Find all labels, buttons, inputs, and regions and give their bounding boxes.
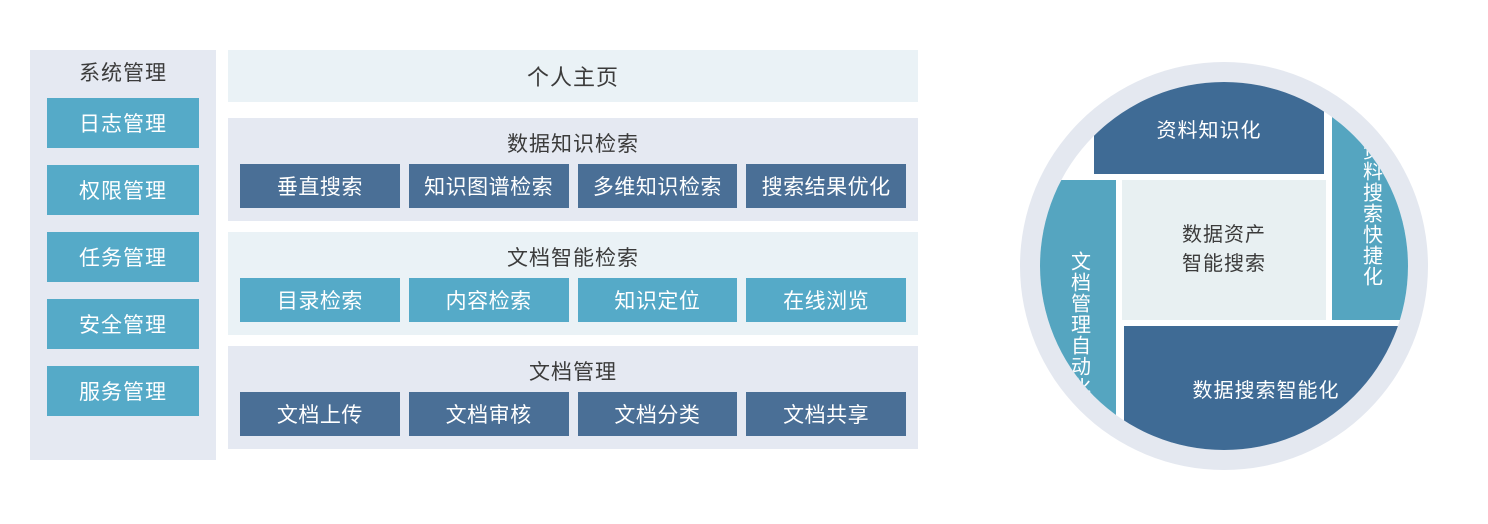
panel-document-intelligent-search: 文档智能检索 目录检索 内容检索 知识定位 在线浏览 <box>228 232 918 335</box>
chip-online-browse[interactable]: 在线浏览 <box>746 278 906 322</box>
sidebar: 系统管理 日志管理 权限管理 任务管理 安全管理 服务管理 <box>30 50 216 460</box>
circular-diagram: 资料知识化 资料搜索快捷化 文档管理自动化 数据搜索智能化 数据资产 智能搜索 <box>1020 62 1440 470</box>
sidebar-item-permission[interactable]: 权限管理 <box>47 165 199 215</box>
panel-data-knowledge-search-title: 数据知识检索 <box>228 118 918 164</box>
panel-personal-home-title: 个人主页 <box>527 60 619 92</box>
diagram-segment-right[interactable]: 资料搜索快捷化 <box>1332 82 1408 320</box>
sidebar-item-log[interactable]: 日志管理 <box>47 98 199 148</box>
panel-document-intelligent-search-buttons: 目录检索 内容检索 知识定位 在线浏览 <box>228 278 918 335</box>
chip-document-classify[interactable]: 文档分类 <box>578 392 738 436</box>
sidebar-item-security[interactable]: 安全管理 <box>47 299 199 349</box>
diagram-center-line1: 数据资产 <box>1182 221 1266 250</box>
chip-vertical-search[interactable]: 垂直搜索 <box>240 164 400 208</box>
diagram-inner-area: 资料知识化 资料搜索快捷化 文档管理自动化 数据搜索智能化 数据资产 智能搜索 <box>1040 82 1408 450</box>
diagram-center-line2: 智能搜索 <box>1182 250 1266 279</box>
panel-document-management: 文档管理 文档上传 文档审核 文档分类 文档共享 <box>228 346 918 449</box>
chip-search-result-optimization[interactable]: 搜索结果优化 <box>746 164 906 208</box>
panel-data-knowledge-search-buttons: 垂直搜索 知识图谱检索 多维知识检索 搜索结果优化 <box>228 164 918 221</box>
diagram-segment-left[interactable]: 文档管理自动化 <box>1040 180 1116 450</box>
sidebar-item-task[interactable]: 任务管理 <box>47 232 199 282</box>
diagram-page: 系统管理 日志管理 权限管理 任务管理 安全管理 服务管理 个人主页 数据知识检… <box>0 0 1488 524</box>
panel-document-intelligent-search-title: 文档智能检索 <box>228 232 918 278</box>
diagram-segment-bottom[interactable]: 数据搜索智能化 <box>1124 326 1408 450</box>
panel-personal-home[interactable]: 个人主页 <box>228 50 918 102</box>
sidebar-item-service[interactable]: 服务管理 <box>47 366 199 416</box>
diagram-center-label: 数据资产 智能搜索 <box>1122 180 1326 320</box>
panel-data-knowledge-search: 数据知识检索 垂直搜索 知识图谱检索 多维知识检索 搜索结果优化 <box>228 118 918 221</box>
chip-knowledge-locate[interactable]: 知识定位 <box>578 278 738 322</box>
chip-catalog-search[interactable]: 目录检索 <box>240 278 400 322</box>
chip-document-upload[interactable]: 文档上传 <box>240 392 400 436</box>
chip-content-search[interactable]: 内容检索 <box>409 278 569 322</box>
panel-document-management-title: 文档管理 <box>228 346 918 392</box>
diagram-segment-top[interactable]: 资料知识化 <box>1094 82 1324 174</box>
sidebar-title: 系统管理 <box>30 50 216 98</box>
panel-document-management-buttons: 文档上传 文档审核 文档分类 文档共享 <box>228 392 918 449</box>
chip-document-review[interactable]: 文档审核 <box>409 392 569 436</box>
chip-knowledge-graph-search[interactable]: 知识图谱检索 <box>409 164 569 208</box>
chip-multidim-knowledge-search[interactable]: 多维知识检索 <box>578 164 738 208</box>
chip-document-share[interactable]: 文档共享 <box>746 392 906 436</box>
